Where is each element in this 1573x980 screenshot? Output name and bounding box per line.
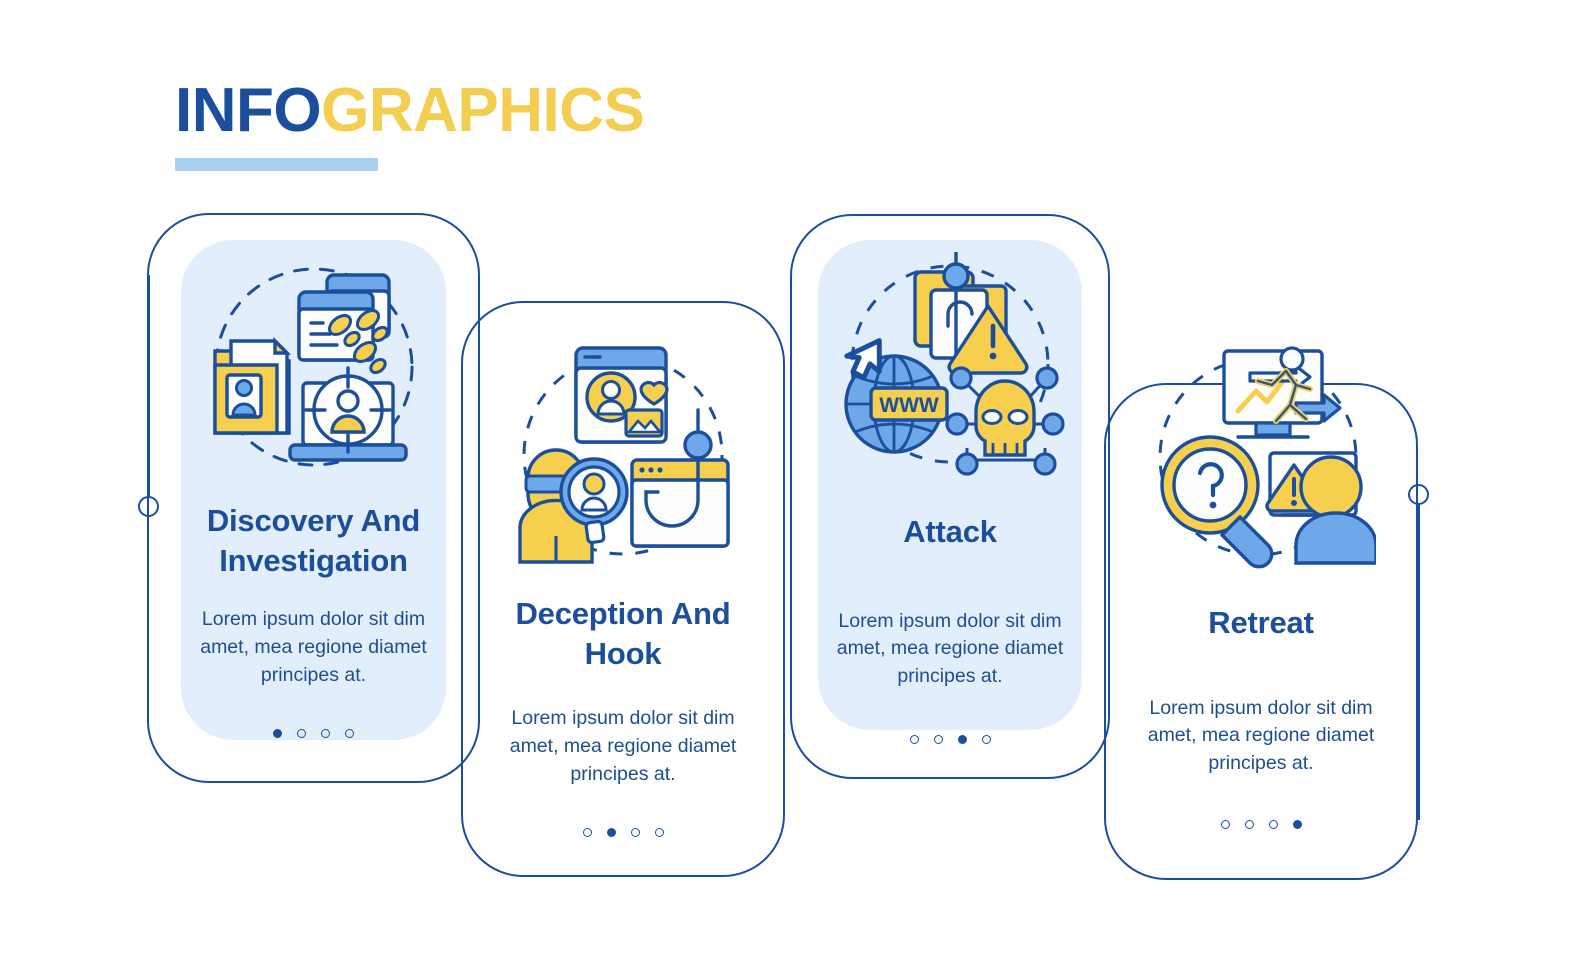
progress-dot-1[interactable] bbox=[273, 729, 282, 738]
step-card-1[interactable]: Discovery And Investigation Lorem ipsum … bbox=[181, 255, 446, 738]
attack-icon: WWW bbox=[835, 252, 1065, 482]
progress-dot-3[interactable] bbox=[631, 828, 640, 837]
discovery-investigation-icon bbox=[199, 255, 429, 485]
step-body: Lorem ipsum dolor sit dim amet, mea regi… bbox=[497, 705, 749, 788]
step-card-2[interactable]: Deception And Hook Lorem ipsum dolor sit… bbox=[492, 340, 754, 837]
progress-dot-1[interactable] bbox=[583, 828, 592, 837]
www-label: WWW bbox=[879, 394, 939, 417]
step-title: Deception And Hook bbox=[492, 594, 754, 673]
step-title: Discovery And Investigation bbox=[181, 501, 446, 580]
progress-dot-2[interactable] bbox=[297, 729, 306, 738]
step-progress-dots[interactable] bbox=[583, 828, 664, 837]
deception-hook-icon bbox=[508, 340, 738, 570]
progress-dot-1[interactable] bbox=[1221, 820, 1230, 829]
step-card-4[interactable]: Retreat Lorem ipsum dolor sit dim amet, … bbox=[1130, 345, 1392, 829]
progress-dot-4[interactable] bbox=[982, 735, 991, 744]
step-title: Retreat bbox=[1208, 603, 1313, 643]
progress-dot-2[interactable] bbox=[607, 828, 616, 837]
step-body: Lorem ipsum dolor sit dim amet, mea regi… bbox=[188, 606, 440, 689]
infographic-canvas: INFOGRAPHICS bbox=[0, 0, 1573, 980]
progress-dot-4[interactable] bbox=[655, 828, 664, 837]
title-text: INFOGRAPHICS bbox=[175, 80, 644, 142]
progress-dot-3[interactable] bbox=[321, 729, 330, 738]
step-title: Attack bbox=[903, 512, 997, 552]
progress-dot-2[interactable] bbox=[934, 735, 943, 744]
retreat-icon bbox=[1146, 345, 1376, 575]
step-progress-dots[interactable] bbox=[910, 735, 991, 744]
page-title: INFOGRAPHICS bbox=[175, 80, 644, 142]
title-part-info: INFO bbox=[175, 76, 321, 145]
progress-dot-3[interactable] bbox=[958, 735, 967, 744]
step-body: Lorem ipsum dolor sit dim amet, mea regi… bbox=[1135, 695, 1387, 778]
step-progress-dots[interactable] bbox=[1221, 820, 1302, 829]
progress-dot-2[interactable] bbox=[1245, 820, 1254, 829]
progress-dot-1[interactable] bbox=[910, 735, 919, 744]
title-underline-bar bbox=[175, 158, 378, 171]
title-part-graphics: GRAPHICS bbox=[321, 76, 644, 145]
step-card-3[interactable]: WWW bbox=[818, 252, 1082, 744]
progress-dot-3[interactable] bbox=[1269, 820, 1278, 829]
step-progress-dots[interactable] bbox=[273, 729, 354, 738]
step-body: Lorem ipsum dolor sit dim amet, mea regi… bbox=[824, 608, 1076, 691]
progress-dot-4[interactable] bbox=[1293, 820, 1302, 829]
progress-dot-4[interactable] bbox=[345, 729, 354, 738]
